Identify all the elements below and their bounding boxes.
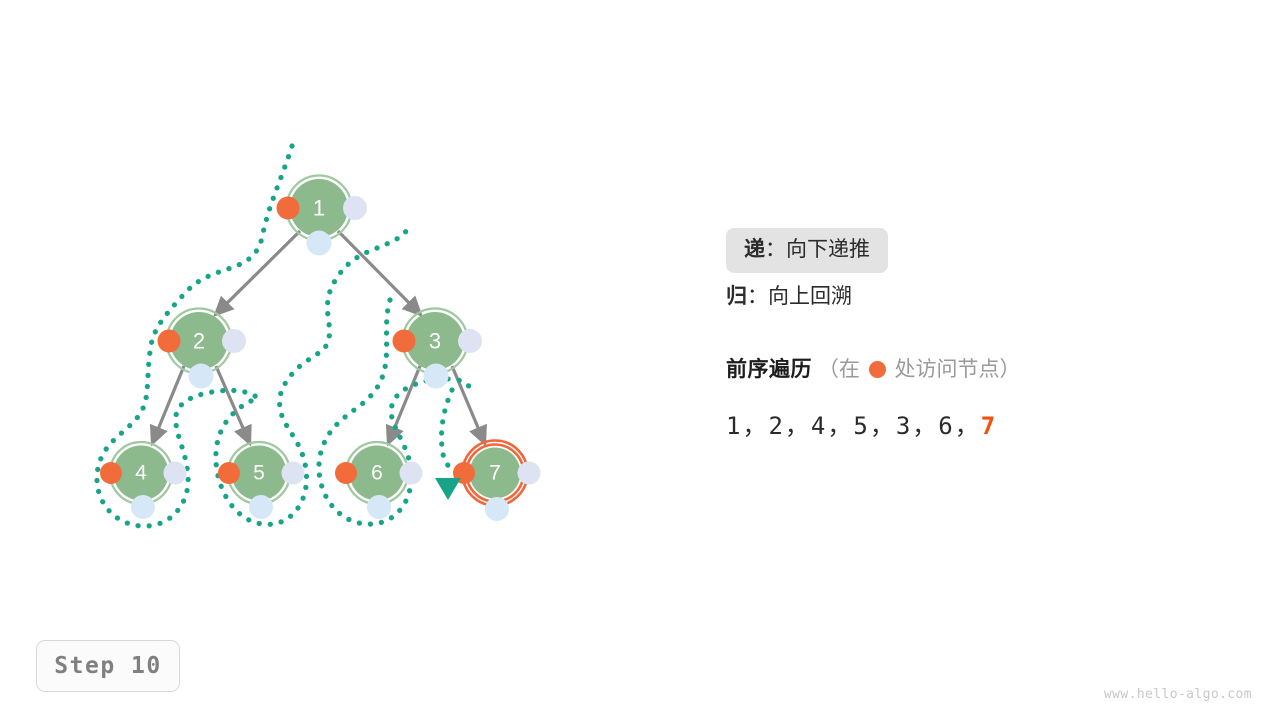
- node-3-bottom-dot: [424, 364, 449, 389]
- sequence-item: 2: [768, 412, 784, 440]
- node-5-bottom-dot: [249, 495, 273, 519]
- legend-backtrack-text: ：向上回溯: [747, 285, 852, 308]
- sequence-item: 3: [896, 412, 912, 440]
- node-4-visit-dot: [100, 462, 122, 484]
- tree-node-4[interactable]: 4: [100, 442, 187, 519]
- sequence-item: 1: [726, 412, 742, 440]
- node-1-visit-dot: [277, 197, 300, 220]
- node-4-label: 4: [135, 462, 147, 485]
- sequence-item: 5: [853, 412, 869, 440]
- sequence-separator: ，: [827, 412, 853, 440]
- node-1-right-dot: [343, 196, 367, 220]
- sequence-separator: ，: [742, 412, 768, 440]
- node-6-right-dot: [400, 462, 423, 485]
- watermark: www.hello-algo.com: [1104, 687, 1252, 702]
- traversal-note-prefix: （在: [818, 358, 860, 381]
- traversal-type-label: 前序遍历: [726, 358, 812, 381]
- binary-tree-diagram: 1 2 3 4: [0, 0, 700, 620]
- legend-backtrack-label: 归: [726, 285, 747, 308]
- step-label: Step 10: [54, 653, 161, 679]
- tree-node-6[interactable]: 6: [335, 442, 423, 519]
- tree-node-1[interactable]: 1: [277, 176, 368, 256]
- legend-recurse-badge: 递：向下递推: [726, 228, 888, 273]
- traversal-order-heading: 前序遍历 （在 处访问节点）: [726, 359, 1246, 380]
- tree-nodes: 1 2 3 4: [100, 176, 541, 522]
- node-4-bottom-dot: [131, 495, 155, 519]
- node-3-visit-dot: [393, 330, 416, 353]
- edge-1-3: [338, 231, 421, 315]
- edge-1-2: [215, 231, 300, 315]
- node-2-bottom-dot: [189, 364, 214, 389]
- node-3-label: 3: [429, 329, 441, 354]
- node-1-label: 1: [313, 196, 325, 221]
- sequence-separator: ，: [870, 412, 896, 440]
- node-6-visit-dot: [335, 462, 357, 484]
- tree-node-7[interactable]: 7: [453, 441, 541, 522]
- recursion-path-to-current: [441, 390, 452, 470]
- legend-row-recurse: 递：向下递推: [726, 228, 1246, 273]
- legend-panel: 递：向下递推 归：向上回溯 前序遍历 （在 处访问节点） 1，2，4，5，3，6…: [726, 228, 1246, 441]
- node-2-label: 2: [193, 329, 205, 354]
- node-5-visit-dot: [218, 462, 240, 484]
- node-4-right-dot: [164, 462, 187, 485]
- node-5-right-dot: [282, 462, 305, 485]
- tree-node-2[interactable]: 2: [158, 309, 247, 389]
- legend-recurse-text: ：向下递推: [765, 238, 870, 261]
- node-7-bottom-dot: [485, 497, 509, 521]
- node-2-right-dot: [222, 329, 246, 353]
- sequence-item-current: 7: [981, 412, 997, 440]
- node-3-right-dot: [458, 329, 482, 353]
- node-6-label: 6: [371, 462, 383, 485]
- traversal-sequence: 1，2，4，5，3，6，7: [726, 406, 1246, 441]
- tree-node-3[interactable]: 3: [393, 309, 483, 389]
- sequence-item: 6: [938, 412, 954, 440]
- teal-triangle-cursor-icon: [435, 478, 461, 500]
- node-7-right-dot: [518, 462, 541, 485]
- node-1-bottom-dot: [307, 231, 332, 256]
- traversal-order-block: 前序遍历 （在 处访问节点） 1，2，4，5，3，6，7: [726, 359, 1246, 441]
- sequence-separator: ，: [955, 412, 981, 440]
- sequence-separator: ，: [785, 412, 811, 440]
- node-5-label: 5: [253, 462, 265, 485]
- legend-recurse-label: 递: [744, 238, 765, 261]
- node-6-bottom-dot: [367, 495, 391, 519]
- node-7-label: 7: [489, 462, 501, 485]
- legend-backtrack-badge: 归：向上回溯: [726, 275, 870, 320]
- traversal-note-suffix: 处访问节点）: [895, 358, 1021, 381]
- step-badge: Step 10: [36, 640, 180, 692]
- legend-row-backtrack: 归：向上回溯: [726, 273, 1246, 320]
- sequence-item: 4: [811, 412, 827, 440]
- sequence-separator: ，: [912, 412, 938, 440]
- orange-visit-dot-icon: [869, 361, 886, 378]
- edge-3-7: [452, 366, 485, 444]
- node-2-visit-dot: [158, 330, 181, 353]
